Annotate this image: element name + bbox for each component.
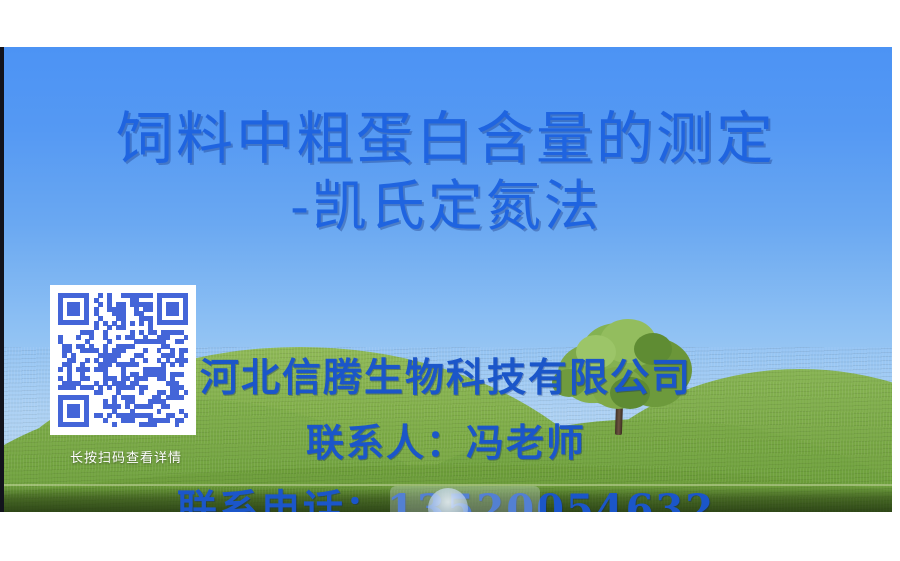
qr-caption: 长按扫码查看详情 (36, 447, 216, 466)
qr-code[interactable] (50, 285, 196, 435)
tree-icon (548, 317, 696, 437)
tree-foliage (610, 377, 650, 409)
video-player-frame[interactable]: 饲料中粗蛋白含量的测定 -凯氏定氮法 长按扫码查看详情 河北信腾生物科技有限公司… (0, 47, 892, 512)
page-right-gutter (892, 0, 900, 561)
frame-bezel-left (0, 47, 4, 512)
tree-foliage (576, 335, 616, 369)
qr-matrix (58, 293, 188, 427)
tree-foliage (634, 333, 672, 365)
screenshot-root: 饲料中粗蛋白含量的测定 -凯氏定氮法 长按扫码查看详情 河北信腾生物科技有限公司… (0, 0, 900, 561)
tree-foliage (552, 369, 586, 397)
